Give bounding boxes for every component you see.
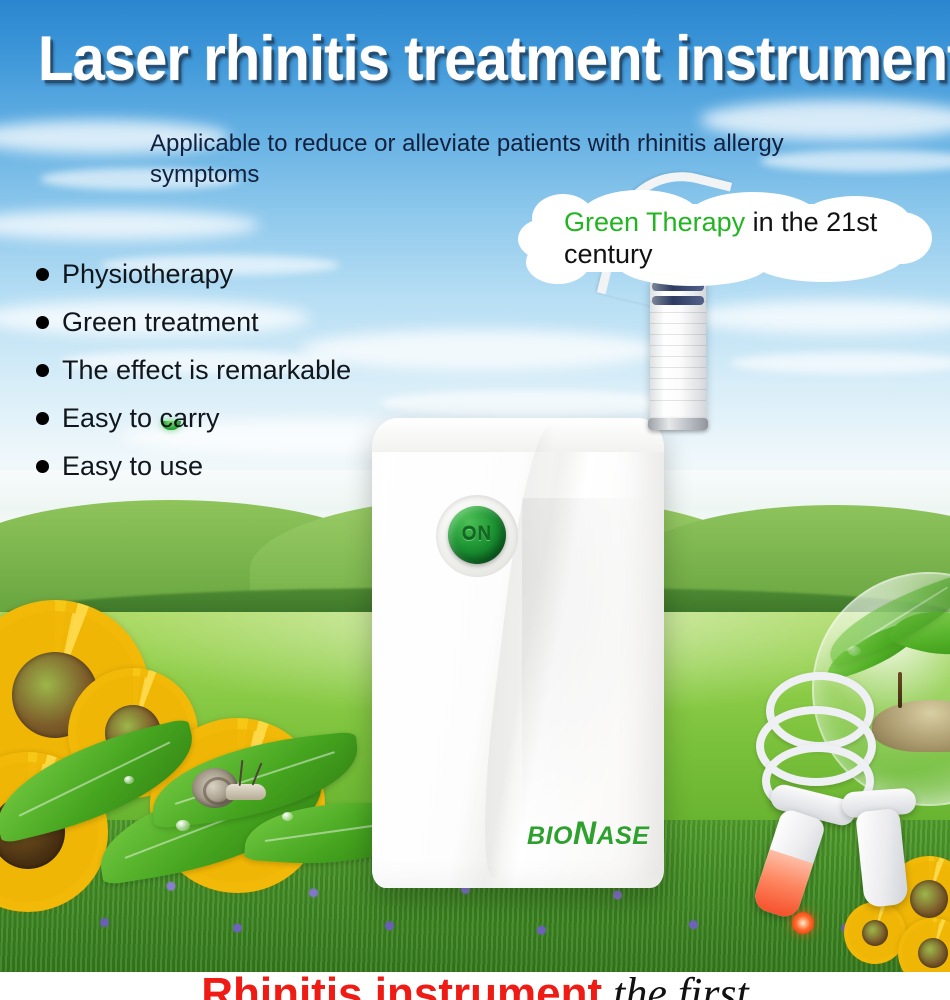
power-button-label: ON [462, 524, 493, 546]
feature-label: Easy to use [62, 451, 203, 482]
dew-drop [124, 776, 134, 784]
page-title: Laser rhinitis treatment instrument [38, 26, 912, 92]
footer-red-text: Rhinitis instrument [201, 972, 602, 1000]
plug-chrome-base [648, 418, 708, 430]
sunflower [844, 902, 906, 964]
bullet-dot-icon [36, 316, 49, 329]
list-item: Easy to carry [36, 394, 351, 442]
footer-text: Rhinitis instrument the first [0, 972, 950, 1000]
feature-label: Physiotherapy [62, 259, 233, 290]
snail-body [226, 784, 266, 800]
sunflower-center [918, 938, 948, 968]
cloud-wisp [300, 330, 660, 370]
feature-label: Green treatment [62, 307, 259, 338]
bullet-dot-icon [36, 460, 49, 473]
bullet-dot-icon [36, 412, 49, 425]
sprout-stem [898, 672, 902, 708]
power-on-button[interactable]: ON [448, 506, 506, 564]
bullet-dot-icon [36, 268, 49, 281]
callout-bubble: Green Therapy in the 21st century [518, 190, 932, 286]
brand-letter-n: N [573, 815, 597, 851]
list-item: Physiotherapy [36, 250, 351, 298]
brand-prefix: BIO [527, 822, 573, 850]
list-item: Green treatment [36, 298, 351, 346]
plug-ring [652, 296, 704, 305]
feature-label: The effect is remarkable [62, 355, 351, 386]
feature-list: Physiotherapy Green treatment The effect… [36, 250, 351, 490]
product-device-body [372, 418, 664, 888]
callout-text: Green Therapy in the 21st century [564, 206, 914, 270]
subtitle: Applicable to reduce or alleviate patien… [150, 128, 850, 190]
list-item: The effect is remarkable [36, 346, 351, 394]
feature-label: Easy to carry [62, 403, 220, 434]
device-top-face [372, 418, 664, 452]
dew-drop [176, 820, 190, 831]
brand-suffix: ASE [597, 822, 650, 850]
product-advertisement: ON BIONASE Laser rhinitis treatment inst… [0, 0, 950, 1000]
footer-strip: Rhinitis instrument the first [0, 972, 950, 1000]
laser-emitter-dot [792, 912, 814, 934]
bullet-dot-icon [36, 364, 49, 377]
sunflower-center [862, 920, 888, 946]
list-item: Easy to use [36, 442, 351, 490]
brand-logo: BIONASE [527, 822, 649, 851]
cloud-wisp [380, 390, 680, 416]
sunflower-center [910, 880, 948, 918]
footer-script-text: the first [602, 972, 749, 1000]
callout-highlight: Green Therapy [564, 207, 745, 237]
dew-drop [282, 812, 293, 821]
